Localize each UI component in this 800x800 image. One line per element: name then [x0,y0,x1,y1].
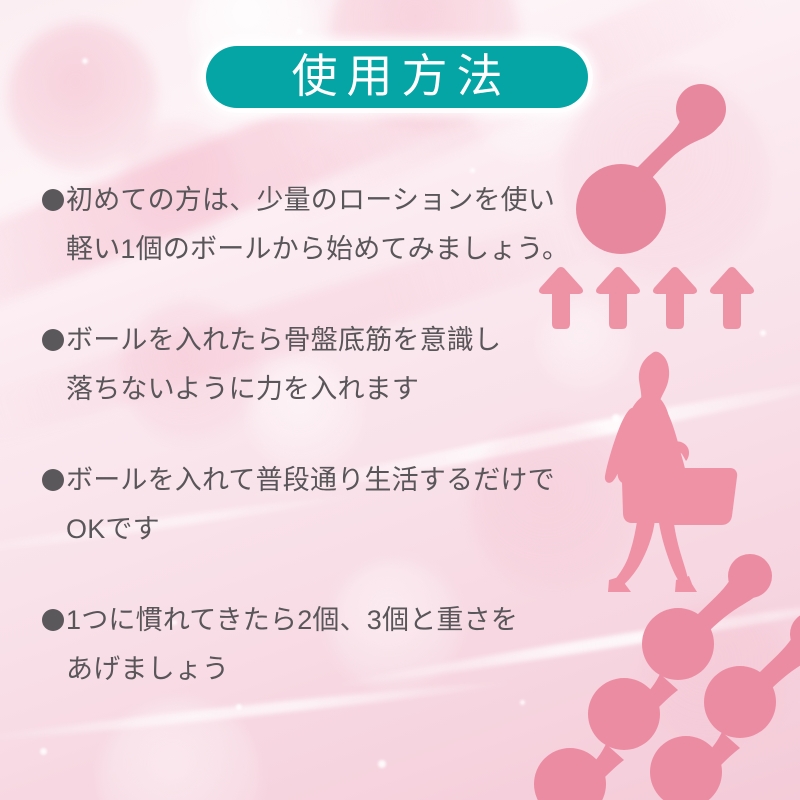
list-item-text: 初めての方は、少量のローションを使い [66,176,555,225]
instruction-poster: 使用方法 初めての方は、少量のローションを使い 軽い1個のボールから始めてみまし… [0,0,800,800]
page-title: 使用方法 [283,53,512,102]
bokeh-circle [640,600,790,750]
bullet-dot-icon [42,329,64,351]
bokeh-circle [560,70,770,280]
list-item: 初めての方は、少量のローションを使い 軽い1個のボールから始めてみましょう。 [42,176,562,274]
list-item: ボールを入れて普段通り生活するだけで OKです [42,456,562,554]
sparkle-dot [716,470,725,479]
bokeh-circle [8,22,158,172]
walking-woman-silhouette [596,344,772,592]
list-item-first-line: ボールを入れたら骨盤底筋を意識し [42,316,562,365]
list-item-first-line: 初めての方は、少量のローションを使い [42,176,562,225]
list-item-second-line: 軽い1個のボールから始めてみましょう。 [42,225,562,274]
ball-chain [534,554,772,800]
title-badge-fill: 使用方法 [206,46,588,108]
sparkle-dot [470,168,475,173]
bullet-dot-icon [42,469,64,491]
sparkle-dot [296,28,303,35]
list-item-text: 1つに慣れてきたら2個、3個と重さを [66,596,518,645]
kegel-ball-chains-illustration [528,548,800,800]
sparkle-dot [378,760,386,768]
sparkle-dot [40,748,47,755]
bullet-dot-icon [42,189,64,211]
bullet-dot-icon [42,609,64,631]
list-item-second-line: 落ちないように力を入れます [42,365,562,414]
list-item: 1つに慣れてきたら2個、3個と重さを あげましょう [42,596,562,694]
list-item-text: 落ちないように力を入れます [66,365,419,414]
title-badge: 使用方法 [201,41,593,113]
list-item: ボールを入れたら骨盤底筋を意識し 落ちないように力を入れます [42,316,562,414]
single-kegel-ball-illustration [575,78,735,268]
ball-chain [596,612,800,800]
list-item-text: あげましょう [66,645,229,694]
list-item-text: ボールを入れて普段通り生活するだけで [66,456,555,505]
sparkle-dot [612,414,620,422]
list-item-text: ボールを入れたら骨盤底筋を意識し [66,316,501,365]
sparkle-dot [652,512,658,518]
list-item-text: 軽い1個のボールから始めてみましょう。 [66,225,569,274]
list-item-second-line: OKです [42,505,562,554]
list-item-text: OKです [66,505,160,554]
sparkle-dot [760,330,766,336]
upward-arrows-illustration [532,266,764,332]
list-item-first-line: 1つに慣れてきたら2個、3個と重さを [42,596,562,645]
list-item-second-line: あげましょう [42,645,562,694]
list-item-first-line: ボールを入れて普段通り生活するだけで [42,456,562,505]
instruction-list: 初めての方は、少量のローションを使い 軽い1個のボールから始めてみましょう。 ボ… [42,176,562,736]
sparkle-dot [82,58,88,64]
